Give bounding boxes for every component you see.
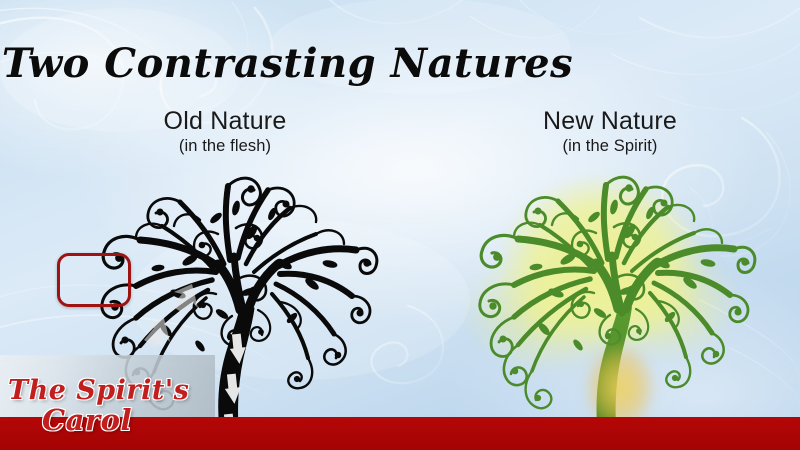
old-nature-subheading: (in the flesh): [60, 135, 390, 159]
column-heading-old-nature: Old Nature (in the flesh): [60, 108, 390, 159]
logo-line-two: Carol: [42, 403, 132, 437]
new-nature-tree-illustration: [440, 163, 770, 450]
new-nature-subheading: (in the Spirit): [445, 135, 775, 159]
logo-line-one: The Spirit's: [8, 375, 189, 406]
presentation-slide: Two Contrasting Natures Old Nature (in t…: [0, 0, 800, 450]
highlight-callout-box: [57, 253, 131, 307]
spirits-carol-logo: The Spirit's Carol: [0, 355, 215, 450]
old-nature-heading: Old Nature: [60, 108, 390, 135]
new-nature-heading: New Nature: [445, 108, 775, 135]
column-heading-new-nature: New Nature (in the Spirit): [445, 108, 775, 159]
slide-title: Two Contrasting Natures: [0, 40, 575, 87]
